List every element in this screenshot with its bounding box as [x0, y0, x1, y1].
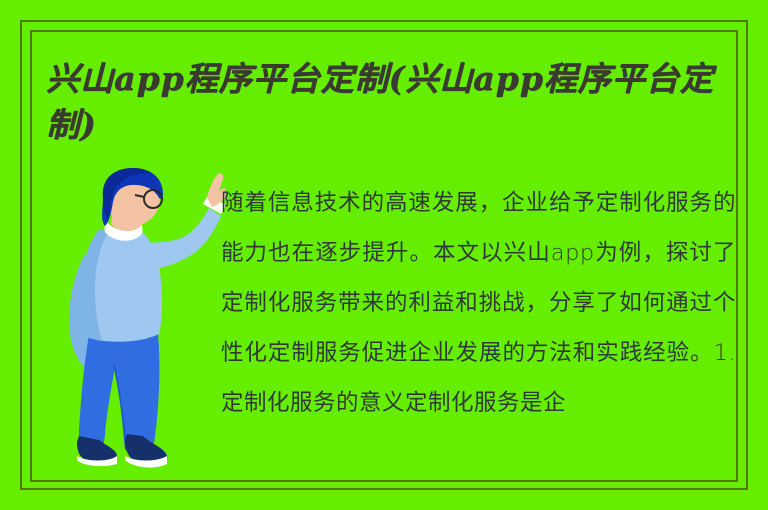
pointing-person-illustration: [55, 168, 225, 480]
page-title: 兴山app程序平台定制(兴山app程序平台定制): [46, 56, 726, 148]
article-body: 随着信息技术的高速发展，企业给予定制化服务的能力也在逐步提升。本文以兴山app为…: [221, 178, 736, 428]
poster-canvas: 兴山app程序平台定制(兴山app程序平台定制): [0, 0, 768, 510]
trousers: [79, 323, 159, 450]
